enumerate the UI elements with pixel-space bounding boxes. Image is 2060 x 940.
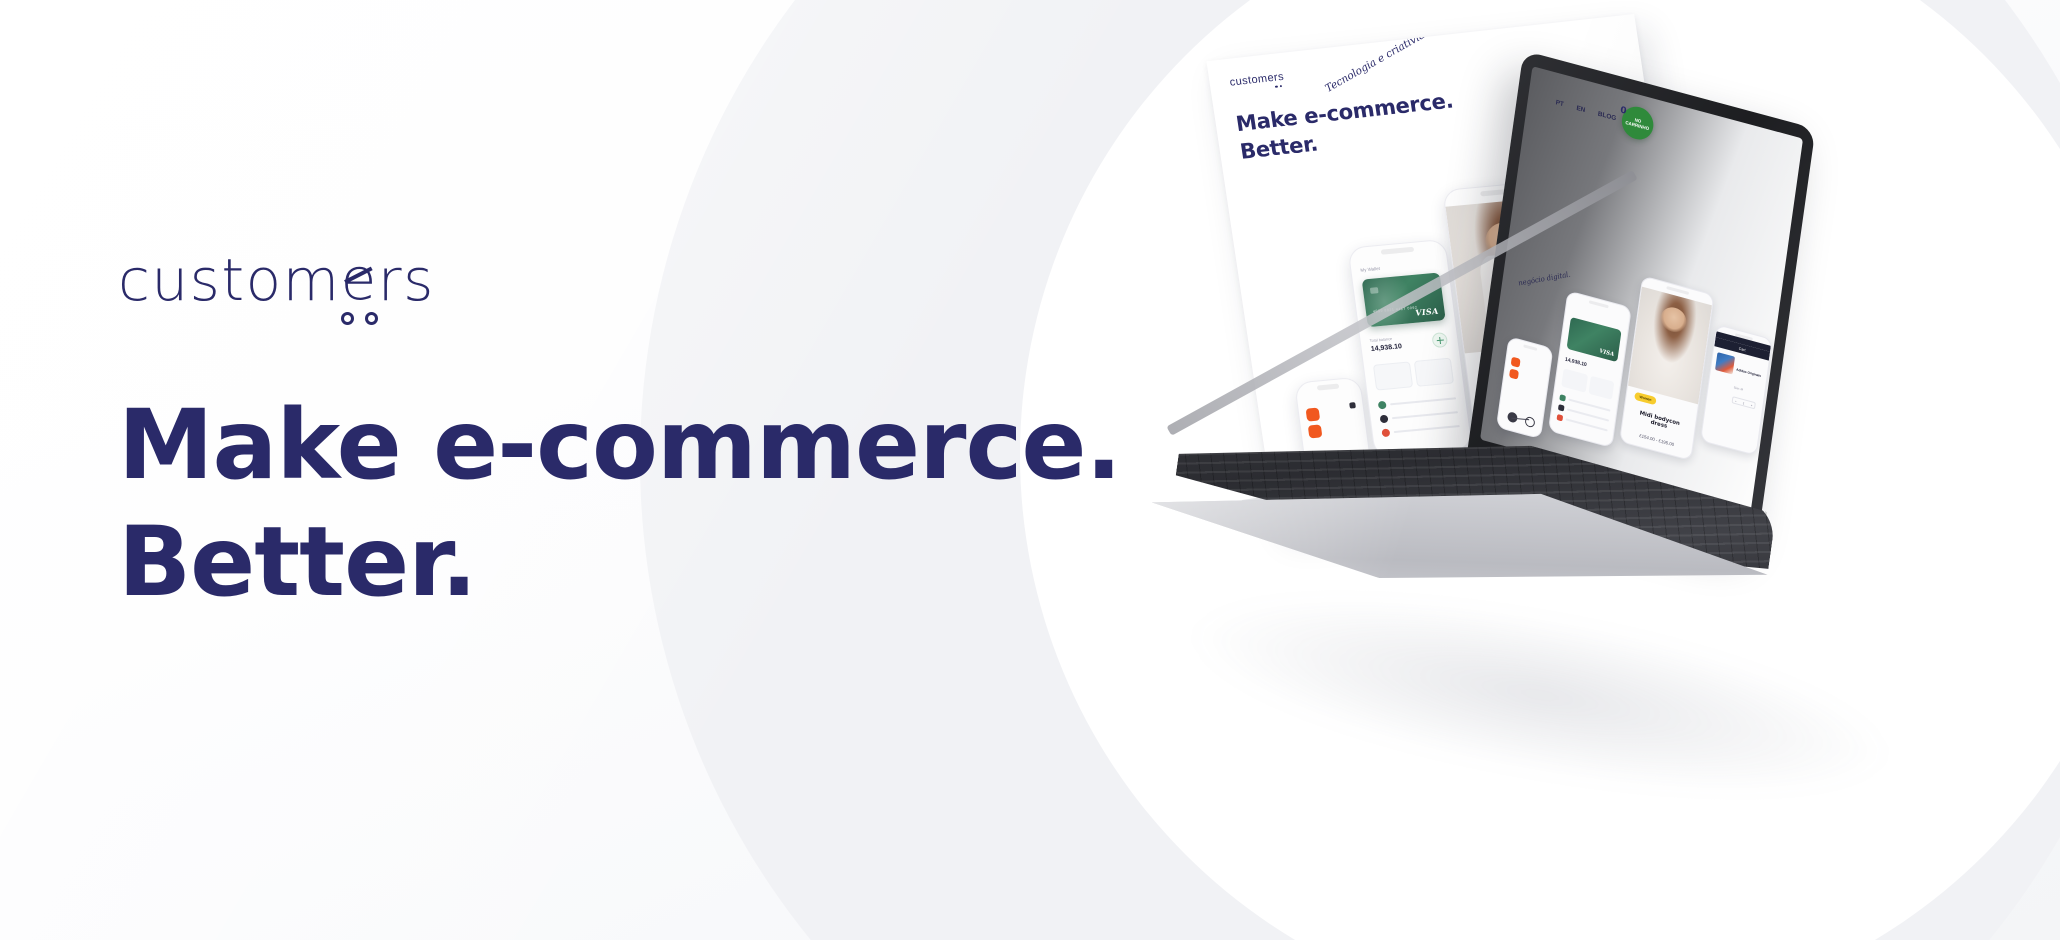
balance-amount: 14,938.10 [1565, 357, 1587, 369]
cart-item-variant: Size: M [1734, 385, 1744, 391]
hero-banner: customers Make e-commerce. Better. custo… [0, 0, 2060, 940]
cart-wheel-right [365, 312, 378, 325]
headline-line-2: Better. [118, 504, 1138, 621]
phone-notch [1589, 300, 1609, 308]
cart-item-thumbnail [1715, 352, 1735, 375]
cart-item-meta: Adidas Originals Size: M − 1 + [1732, 358, 1763, 410]
nav-item-blog[interactable]: BLOG [1597, 111, 1616, 123]
wallet-transaction-list [1556, 392, 1611, 435]
hero-headline: Make e-commerce. Better. [118, 387, 1138, 621]
site-phone-wallet: VISA 14,938.10 [1548, 290, 1632, 448]
cart-badge[interactable]: 0 NOCARRINHO [1620, 103, 1656, 143]
visa-card: VISA [1567, 317, 1622, 362]
hero-copy: customers Make e-commerce. Better. [118, 250, 1138, 621]
orange-badge-icon [1509, 368, 1519, 379]
transaction-icon [1558, 404, 1565, 412]
cart-item-name: Adidas Originals [1736, 367, 1761, 378]
cart-wheel-left [341, 312, 354, 325]
bike-wheel-right [1524, 416, 1535, 429]
decrease-quantity-button[interactable]: − [1735, 398, 1737, 402]
site-phone-cart: Cart Adidas Originals Size: M − 1 [1700, 324, 1773, 456]
laptop-mockup: PT EN BLOG 0 NOCARRINHO negócio digital. [1047, 0, 2053, 930]
quantity-stepper[interactable]: − 1 + [1732, 396, 1756, 409]
brand-logo-part-two: rs [378, 251, 435, 309]
wallet-tile[interactable] [1561, 368, 1587, 392]
headline-line-1: Make e-commerce. [118, 387, 1138, 504]
cart-badge-label: NOCARRINHO [1625, 115, 1650, 132]
site-nav: PT EN BLOG [1555, 99, 1616, 122]
nav-item-pt[interactable]: PT [1555, 99, 1564, 108]
transaction-icon [1557, 414, 1564, 422]
cart-line-item: Adidas Originals Size: M − 1 + [1711, 352, 1764, 410]
quantity-value: 1 [1743, 401, 1745, 405]
brand-logo-part-one: custom [118, 251, 341, 309]
wallet-tile[interactable] [1588, 376, 1614, 400]
phone-notch [1523, 344, 1537, 351]
site-phone-product: Women Midi bodycon dress £154.00 - £195.… [1619, 275, 1714, 461]
visa-logo: VISA [1599, 348, 1615, 358]
transaction-icon [1559, 394, 1566, 402]
orange-badge-icon [1511, 357, 1521, 368]
site-phone-mini [1496, 336, 1554, 439]
bicycle-illustration [1507, 403, 1537, 428]
product-category-badge: Women [1634, 392, 1657, 406]
mockup-composition: customers Make e-commerce. Better. Tecno… [1150, 0, 2060, 940]
increase-quantity-button[interactable]: + [1751, 403, 1753, 407]
cart-wheels-icon [341, 312, 378, 325]
brand-logo-cart-e: e [341, 250, 378, 309]
brand-logo[interactable]: customers [118, 250, 435, 309]
product-photo [1628, 287, 1712, 405]
nav-item-en[interactable]: EN [1576, 105, 1586, 114]
